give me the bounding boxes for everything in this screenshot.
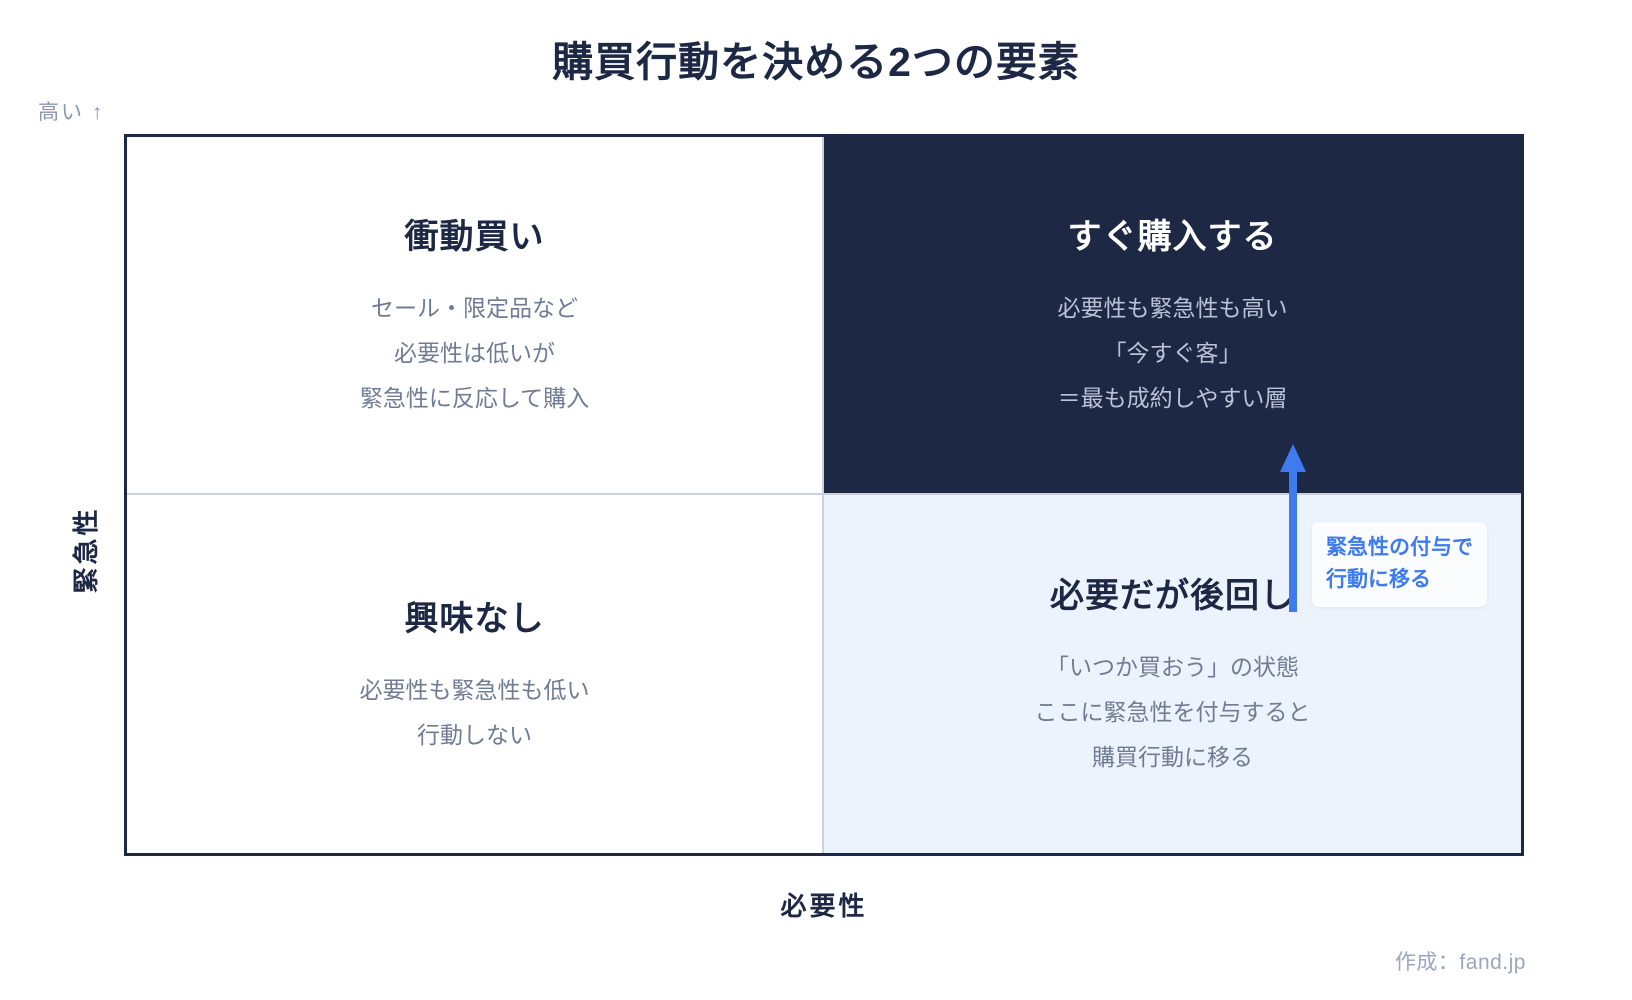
quadrant-top-right-line-1: 必要性も緊急性も高い [1058,286,1288,331]
quadrant-top-right-heading: すぐ購入する [1068,209,1278,258]
quadrant-bottom-right-line-1: 「いつか買おう」の状態 [1035,645,1311,690]
quadrant-top-left-heading: 衝動買い [405,209,545,258]
quadrant-top-right-body: 必要性も緊急性も高い 「今すぐ客」 ＝最も成約しやすい層 [1058,286,1288,421]
quadrant-bottom-left-heading: 興味なし [405,591,545,640]
annotation-line-1: 緊急性の付与で [1326,532,1473,564]
quadrant-bottom-left-body: 必要性も緊急性も低い 行動しない [360,668,590,758]
quadrant-top-left: 衝動買い セール・限定品など 必要性は低いが 緊急性に反応して購入 [127,137,824,495]
x-axis-title: 必要性 [124,886,1524,923]
y-axis-title: 緊急性 [66,430,103,670]
infographic-canvas: 購買行動を決める2つの要素 高い ↑ 緊急性 衝動買い セール・限定品など 必要… [0,0,1632,1000]
quadrant-bottom-right-heading: 必要だが後回し [1050,568,1295,617]
quadrant-bottom-right-line-2: ここに緊急性を付与すると [1035,690,1311,735]
quadrant-top-left-body: セール・限定品など 必要性は低いが 緊急性に反応して購入 [360,286,589,421]
quadrant-bottom-right-line-3: 購買行動に移る [1035,735,1311,780]
quadrant-bottom-left-line-2: 行動しない [360,713,590,758]
y-axis-high-label: 高い ↑ [38,96,104,126]
credit-label: 作成：fand.jp [1395,946,1526,976]
quadrant-bottom-left: 興味なし 必要性も緊急性も低い 行動しない [127,495,824,853]
quadrant-top-right-line-3: ＝最も成約しやすい層 [1058,376,1288,421]
page-title: 購買行動を決める2つの要素 [0,28,1632,88]
quadrant-top-left-line-3: 緊急性に反応して購入 [360,376,589,421]
quadrant-top-left-line-1: セール・限定品など [360,286,589,331]
quadrant-bottom-right-body: 「いつか買おう」の状態 ここに緊急性を付与すると 購買行動に移る [1035,645,1311,780]
quadrant-bottom-left-line-1: 必要性も緊急性も低い [360,668,590,713]
quadrant-top-left-line-2: 必要性は低いが [360,331,589,376]
quadrant-top-right: すぐ購入する 必要性も緊急性も高い 「今すぐ客」 ＝最も成約しやすい層 [824,137,1521,495]
quadrant-matrix: 衝動買い セール・限定品など 必要性は低いが 緊急性に反応して購入 すぐ購入する… [124,134,1524,856]
quadrant-top-right-line-2: 「今すぐ客」 [1058,331,1288,376]
annotation-line-2: 行動に移る [1326,564,1473,596]
annotation-callout: 緊急性の付与で 行動に移る [1312,522,1487,607]
